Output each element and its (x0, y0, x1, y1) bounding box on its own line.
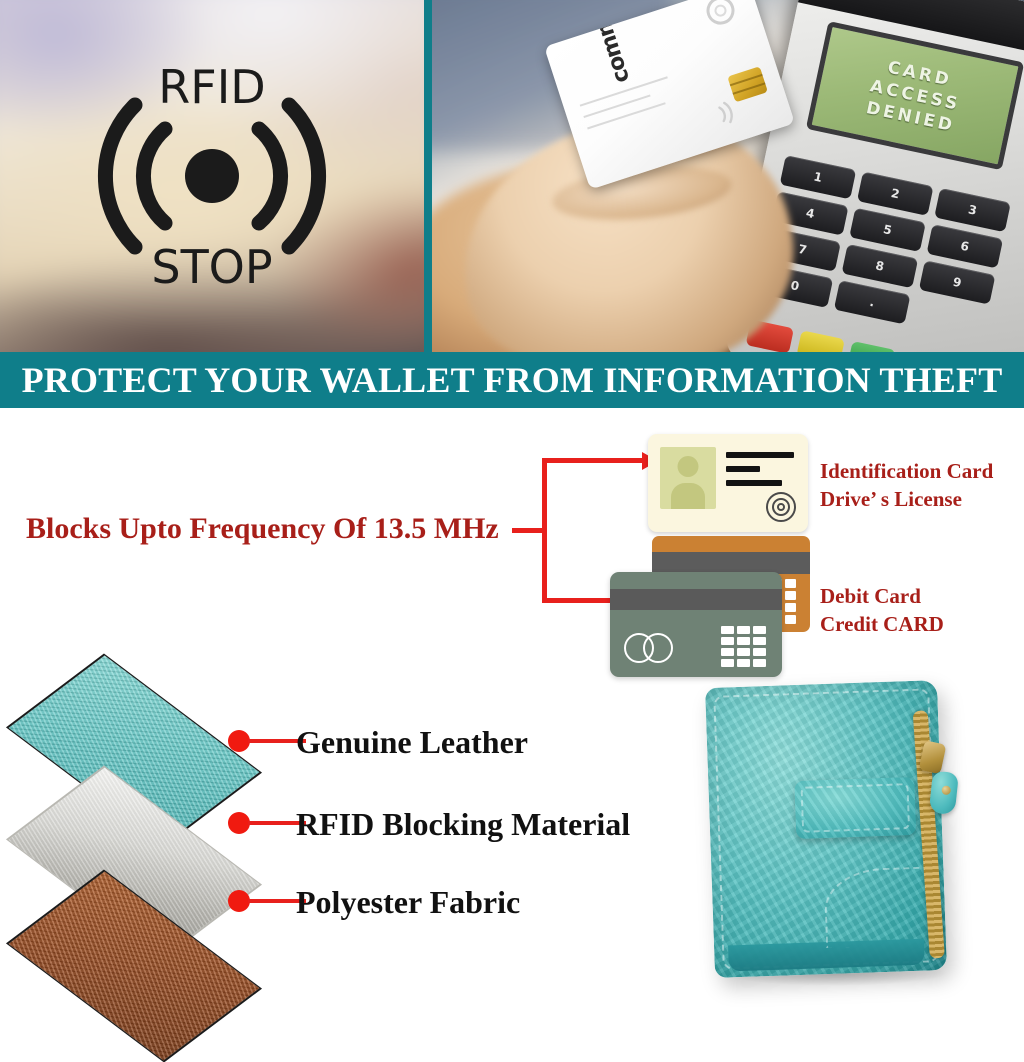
callout-dot-icon (228, 890, 250, 912)
person-head-icon (678, 456, 699, 477)
rfid-stop-icon: RFID STOP (87, 51, 337, 301)
layer-label: Genuine Leather (296, 724, 528, 761)
keypad-key: 6 (926, 224, 1003, 268)
payment-label-line-1: Debit Card (820, 583, 944, 611)
identification-card-label: Identification Card Drive’ s License (820, 458, 993, 513)
card-antenna-trace (583, 94, 650, 118)
keypad-key: 1 (780, 155, 857, 199)
id-photo-placeholder (660, 447, 716, 509)
frequency-statement: Blocks Upto Frequency Of 13.5 MHz (26, 512, 499, 546)
connector-branch-top (542, 458, 646, 463)
payment-label-line-2: Credit CARD (820, 611, 944, 639)
keypad-key: 8 (842, 244, 919, 288)
id-text-line (726, 452, 794, 458)
callout-dot-icon (228, 812, 250, 834)
id-hologram-seal-icon (766, 492, 796, 522)
card-logo-rings-icon (624, 633, 682, 663)
enter-key (847, 341, 895, 352)
id-label-line-2: Drive’ s License (820, 486, 993, 514)
layer-label: Polyester Fabric (296, 884, 520, 921)
keypad-key: 2 (857, 172, 934, 216)
clear-key (796, 330, 844, 352)
rfid-icon-bottom-label: STOP (151, 240, 272, 294)
pos-terminal-photo: CARD ACCESS DENIED 1 2 3 4 5 6 7 8 (432, 0, 1024, 352)
zipper-slider-icon (919, 740, 947, 774)
payment-card-label: Debit Card Credit CARD (820, 583, 944, 638)
keypad-key: 9 (919, 260, 996, 304)
wallet-snap-strap (794, 777, 916, 839)
rfid-icon-top-label: RFID (158, 60, 265, 114)
headline-banner: PROTECT YOUR WALLET FROM INFORMATION THE… (0, 352, 1024, 408)
product-photo (684, 660, 1014, 1010)
rfid-center-dot (185, 149, 239, 203)
id-label-line-1: Identification Card (820, 458, 993, 486)
connector-trunk (542, 458, 547, 603)
callout-dot-icon (228, 730, 250, 752)
photo-divider (424, 0, 432, 352)
magnetic-stripe (610, 589, 782, 610)
connector-stem (512, 528, 544, 533)
rfid-stop-logo-photo: RFID STOP (0, 0, 424, 352)
identification-card-graphic (648, 434, 808, 532)
id-text-line (726, 480, 782, 486)
terminal-function-keys (746, 319, 896, 352)
card-hologram-icon (703, 0, 738, 28)
id-text-line (726, 466, 760, 472)
infographic-canvas: RFID STOP CARD A (0, 0, 1024, 1024)
keypad-key: . (834, 280, 911, 324)
top-photo-strip: RFID STOP CARD A (0, 0, 1024, 352)
terminal-keypad: 1 2 3 4 5 6 7 8 9 0 . (757, 155, 1011, 341)
card-antenna-trace (587, 102, 666, 129)
person-body-icon (671, 483, 705, 509)
material-layer-diagram (0, 660, 300, 1000)
banner-headline: PROTECT YOUR WALLET FROM INFORMATION THE… (22, 359, 1003, 401)
layer-label: RFID Blocking Material (296, 806, 630, 843)
keypad-key: 5 (849, 208, 926, 252)
keypad-key: 3 (934, 188, 1011, 232)
teal-leather-wallet (705, 680, 947, 978)
magnetic-stripe (652, 552, 810, 574)
